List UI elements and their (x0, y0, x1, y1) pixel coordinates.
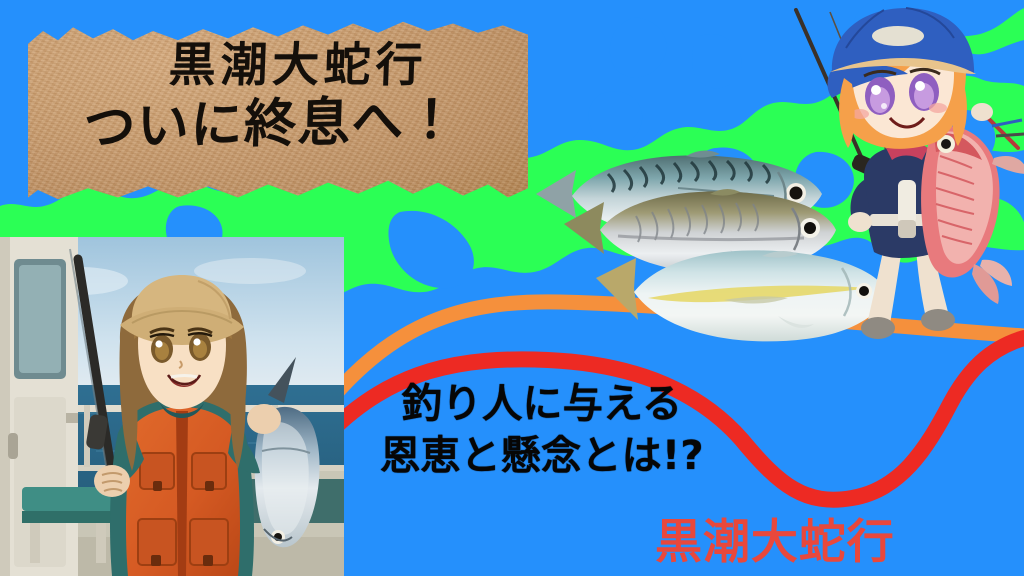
subtitle-text: 釣り人に与える 恩恵と懸念とは!? (362, 378, 722, 482)
title-line-1: 黒潮大蛇行 (28, 42, 528, 91)
torn-kraft-paper-banner: 黒潮大蛇行 ついに終息へ！ (28, 18, 528, 203)
footer-red-word: 黒潮大蛇行 (655, 503, 895, 572)
chibi-angler-character (786, 8, 1024, 368)
subtitle-line-1: 釣り人に与える (362, 378, 722, 430)
anime-angler-girl-photo (0, 237, 344, 576)
subtitle-line-2: 恩恵と懸念とは!? (362, 430, 722, 482)
thumbnail-canvas: 黒潮大蛇行 ついに終息へ！ (0, 0, 1024, 576)
page-title: 黒潮大蛇行 ついに終息へ！ (28, 42, 528, 153)
title-line-2: ついに終息へ！ (28, 90, 528, 159)
